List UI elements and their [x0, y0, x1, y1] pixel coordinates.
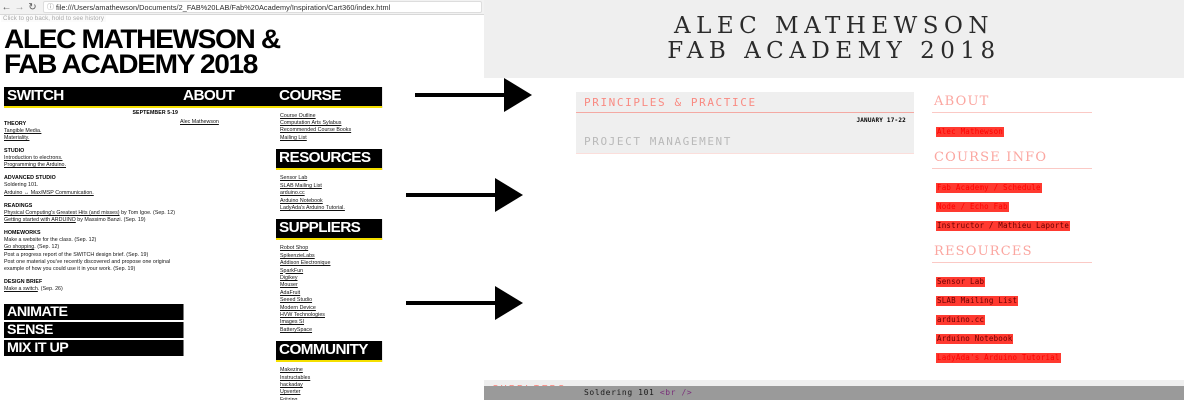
section-heading-switch: SWITCH	[4, 87, 184, 108]
site-header-line1: ALEC MATHEWSON	[674, 14, 994, 39]
page-title-line2: FAB ACADEMY 2018	[4, 52, 484, 77]
link-arduino-maxmsp[interactable]: Arduino ↔ Max/MSP Communication.	[4, 190, 180, 197]
link-robot-shop[interactable]: Robot Shop	[280, 245, 380, 252]
resources-links: Sensor Lab SLAB Mailing List arduino.cc …	[276, 175, 380, 212]
url-text: file:///Users/amathewson/Documents/2_FAB…	[56, 3, 390, 12]
link-images-si[interactable]: Images SI	[280, 319, 380, 326]
arrow-middle	[406, 178, 523, 212]
sidebar-heading-course-info: COURSE INFO	[932, 148, 1092, 169]
link-programming-arduino[interactable]: Programming the Arduino.	[4, 162, 180, 169]
reload-icon[interactable]: ↻	[26, 1, 39, 14]
link-sparkfun[interactable]: SparkFun	[280, 268, 380, 275]
link-sensor-lab[interactable]: Sensor Lab	[280, 175, 380, 182]
link-makezine[interactable]: Makezine	[280, 367, 380, 374]
block-readings: READINGS Physical Computing's Greatest H…	[4, 203, 180, 224]
sidebar-link-fab-academy-schedule[interactable]: Fab Academy / Schedule	[936, 183, 1042, 193]
column-about: ABOUT Alec Mathewson	[180, 87, 276, 400]
homework-item: Post a progress report of the SWITCH des…	[4, 252, 180, 259]
block-title: STUDIO	[4, 148, 180, 155]
text-soldering-101: Soldering 101.	[4, 182, 180, 189]
section-heading-about: ABOUT	[180, 87, 278, 108]
sidebar-links-course-info: Fab Academy / Schedule Node / Echo Fab I…	[932, 169, 1092, 242]
content-gap	[576, 154, 914, 240]
link-hackaday[interactable]: hackaday	[280, 382, 380, 389]
sidebar-heading-about: ABOUT	[932, 92, 1092, 113]
block-title: HOMEWORKS	[4, 230, 180, 237]
block-studio: STUDIO Introduction to electrons. Progra…	[4, 148, 180, 169]
link-instructables[interactable]: Instructables	[280, 375, 380, 382]
arrow-top	[415, 78, 532, 112]
left-page-content: ALEC MATHEWSON & FAB ACADEMY 2018 SWITCH…	[0, 27, 484, 400]
reading-credit: by Massimo Banzi. (Sep. 19)	[76, 217, 146, 223]
sidebar-links-resources: Sensor Lab SLAB Mailing List arduino.cc …	[932, 263, 1092, 374]
section-subtitle-project-management: PROJECT MANAGEMENT	[576, 128, 914, 154]
back-button-tooltip: Click to go back, hold to see history	[1, 15, 106, 22]
section-heading-community: COMMUNITY	[276, 341, 382, 362]
course-links: Course Outline Computation Arts Sylabus …	[276, 113, 380, 143]
link-hvw-technologies[interactable]: HVW Technologies	[280, 312, 380, 319]
switch-date: SEPTEMBER 5-19	[4, 110, 178, 116]
block-title: ADVANCED STUDIO	[4, 175, 180, 182]
link-alec-mathewson[interactable]: Alec Mathewson	[180, 119, 219, 125]
code-overlay-strip: Soldering 101 <br />	[484, 386, 1184, 400]
link-seeed-studio[interactable]: Seeed Studio	[280, 297, 380, 304]
sidebar-link-instructor-mathieu-laporte[interactable]: Instructor / Mathieu Laporte	[936, 221, 1070, 231]
block-advanced-studio: ADVANCED STUDIO Soldering 101. Arduino ↔…	[4, 175, 180, 196]
homework-due: . (Sep. 12)	[34, 244, 59, 250]
homework-item: Make a website for the class. (Sep. 12)	[4, 237, 180, 244]
link-adafruit[interactable]: AdaFruit	[280, 290, 380, 297]
reading-credit: by Tom Igoe. (Sep. 12)	[120, 210, 175, 216]
principles-panel: PRINCIPLES & PRACTICE JANUARY 17-22 PROJ…	[576, 92, 914, 154]
column-switch: SWITCH SEPTEMBER 5-19 THEORY Tangible Me…	[4, 87, 180, 400]
code-text: Soldering 101 <br />	[484, 386, 1184, 400]
sidebar-link-alec-mathewson[interactable]: Alec Mathewson	[936, 127, 1004, 137]
sidebar-section-course-info: COURSE INFO Fab Academy / Schedule Node …	[932, 148, 1092, 242]
link-recommended-course-books[interactable]: Recommended Course Books	[280, 127, 380, 134]
reading-item: Physical Computing's Greatest Hits (and …	[4, 210, 180, 217]
link-physical-computing[interactable]: Physical Computing's Greatest Hits (and …	[4, 210, 120, 216]
section-heading-course: COURSE	[276, 87, 382, 108]
code-tag: <br />	[660, 388, 693, 397]
site-header: ALEC MATHEWSON FAB ACADEMY 2018	[484, 0, 1184, 78]
link-digikey[interactable]: Digikey	[280, 275, 380, 282]
address-bar[interactable]: ⓘ file:///Users/amathewson/Documents/2_F…	[43, 1, 482, 13]
link-ladyada-tutorial[interactable]: LadyAda's Arduino Tutorial.	[280, 205, 380, 212]
sidebar-heading-resources: RESOURCES	[932, 242, 1092, 263]
suppliers-links: Robot Shop SpikenzieLabs Addison Electro…	[276, 245, 380, 334]
column-course: COURSE Course Outline Computation Arts S…	[276, 87, 380, 400]
block-title: THEORY	[4, 121, 180, 128]
link-getting-started-arduino[interactable]: Getting started with ARDUINO	[4, 217, 76, 223]
sidebar-link-sensor-lab[interactable]: Sensor Lab	[936, 277, 985, 287]
sidebar: ABOUT Alec Mathewson COURSE INFO Fab Aca…	[932, 92, 1092, 374]
link-tangible-media[interactable]: Tangible Media.	[4, 128, 180, 135]
link-batteryspace[interactable]: BatterySpace	[280, 327, 380, 334]
section-date: JANUARY 17-22	[576, 113, 914, 128]
sidebar-link-node-echo-fab[interactable]: Node / Echo Fab	[936, 202, 1009, 212]
rendered-site: ALEC MATHEWSON FAB ACADEMY 2018 PRINCIPL…	[484, 0, 1184, 400]
forward-arrow-icon[interactable]: →	[13, 1, 26, 14]
sidebar-link-arduino-cc[interactable]: arduino.cc	[936, 315, 985, 325]
sidebar-link-arduino-notebook[interactable]: Arduino Notebook	[936, 334, 1013, 344]
main-content: PRINCIPLES & PRACTICE JANUARY 17-22 PROJ…	[576, 92, 914, 240]
community-links: Makezine Instructables hackaday Upverter…	[276, 367, 380, 400]
header-notch	[1088, 78, 1184, 138]
section-heading-suppliers: SUPPLIERS	[276, 219, 382, 240]
block-homeworks: HOMEWORKS Make a website for the class. …	[4, 230, 180, 273]
page-title: ALEC MATHEWSON & FAB ACADEMY 2018	[4, 27, 484, 77]
link-mouser[interactable]: Mouser	[280, 282, 380, 289]
sidebar-section-resources: RESOURCES Sensor Lab SLAB Mailing List a…	[932, 242, 1092, 374]
link-make-a-switch[interactable]: Make a switch	[4, 286, 38, 292]
browser-toolbar: ← → ↻ ⓘ file:///Users/amathewson/Documen…	[0, 0, 484, 15]
design-brief-item: Make a switch. (Sep. 26)	[4, 286, 180, 293]
banner-animate[interactable]: ANIMATE	[4, 304, 184, 320]
link-upverter[interactable]: Upverter	[280, 389, 380, 396]
link-modern-device[interactable]: Modern Device	[280, 305, 380, 312]
link-mailing-list[interactable]: Mailing List	[280, 135, 380, 142]
link-computation-arts-sylabus[interactable]: Computation Arts Sylabus	[280, 120, 380, 127]
homework-item: Go shopping. (Sep. 12)	[4, 244, 180, 251]
three-column-layout: SWITCH SEPTEMBER 5-19 THEORY Tangible Me…	[4, 87, 480, 400]
link-spikenzielabs[interactable]: SpikenzieLabs	[280, 253, 380, 260]
block-title: READINGS	[4, 203, 180, 210]
sidebar-section-about: ABOUT Alec Mathewson	[932, 92, 1092, 148]
section-heading-resources: RESOURCES	[276, 149, 382, 170]
link-addison-electronique[interactable]: Addison Electronique	[280, 260, 380, 267]
sidebar-link-slab-mailing-list[interactable]: SLAB Mailing List	[936, 296, 1018, 306]
arrow-bottom	[406, 286, 523, 320]
link-slab-mailing-list[interactable]: SLAB Mailing List	[280, 183, 380, 190]
info-circle-icon[interactable]: ⓘ	[47, 2, 54, 12]
sidebar-link-ladyada-arduino-tutorial[interactable]: LadyAda's Arduino Tutorial	[936, 353, 1061, 363]
unit-banners: ANIMATE SENSE MIX IT UP	[4, 304, 180, 356]
block-theory: THEORY Tangible Media. Materiality.	[4, 121, 180, 142]
sidebar-links-about: Alec Mathewson	[932, 113, 1092, 148]
screenshot-root: ← → ↻ ⓘ file:///Users/amathewson/Documen…	[0, 0, 1184, 400]
block-title: DESIGN BRIEF	[4, 279, 180, 286]
link-go-shopping[interactable]: Go shopping	[4, 244, 34, 250]
link-materiality[interactable]: Materiality.	[4, 135, 180, 142]
link-course-outline[interactable]: Course Outline	[280, 113, 380, 120]
site-body: PRINCIPLES & PRACTICE JANUARY 17-22 PROJ…	[484, 78, 1184, 400]
block-design-brief: DESIGN BRIEF Make a switch. (Sep. 26)	[4, 279, 180, 293]
design-brief-due: . (Sep. 26)	[38, 286, 63, 292]
link-arduino-notebook[interactable]: Arduino Notebook	[280, 198, 380, 205]
banner-mix-it-up[interactable]: MIX IT UP	[4, 340, 184, 356]
homework-item: Post one material you've recently discov…	[4, 259, 180, 273]
back-arrow-icon[interactable]: ←	[0, 1, 13, 14]
link-intro-electrons[interactable]: Introduction to electrons.	[4, 155, 180, 162]
link-arduino-cc[interactable]: arduino.cc	[280, 190, 380, 197]
code-text-content: Soldering 101	[584, 388, 660, 397]
section-title-principles: PRINCIPLES & PRACTICE	[576, 92, 914, 113]
site-header-line2: FAB ACADEMY 2018	[667, 39, 1000, 64]
reading-item: Getting started with ARDUINO by Massimo …	[4, 217, 180, 224]
banner-sense[interactable]: SENSE	[4, 322, 184, 338]
